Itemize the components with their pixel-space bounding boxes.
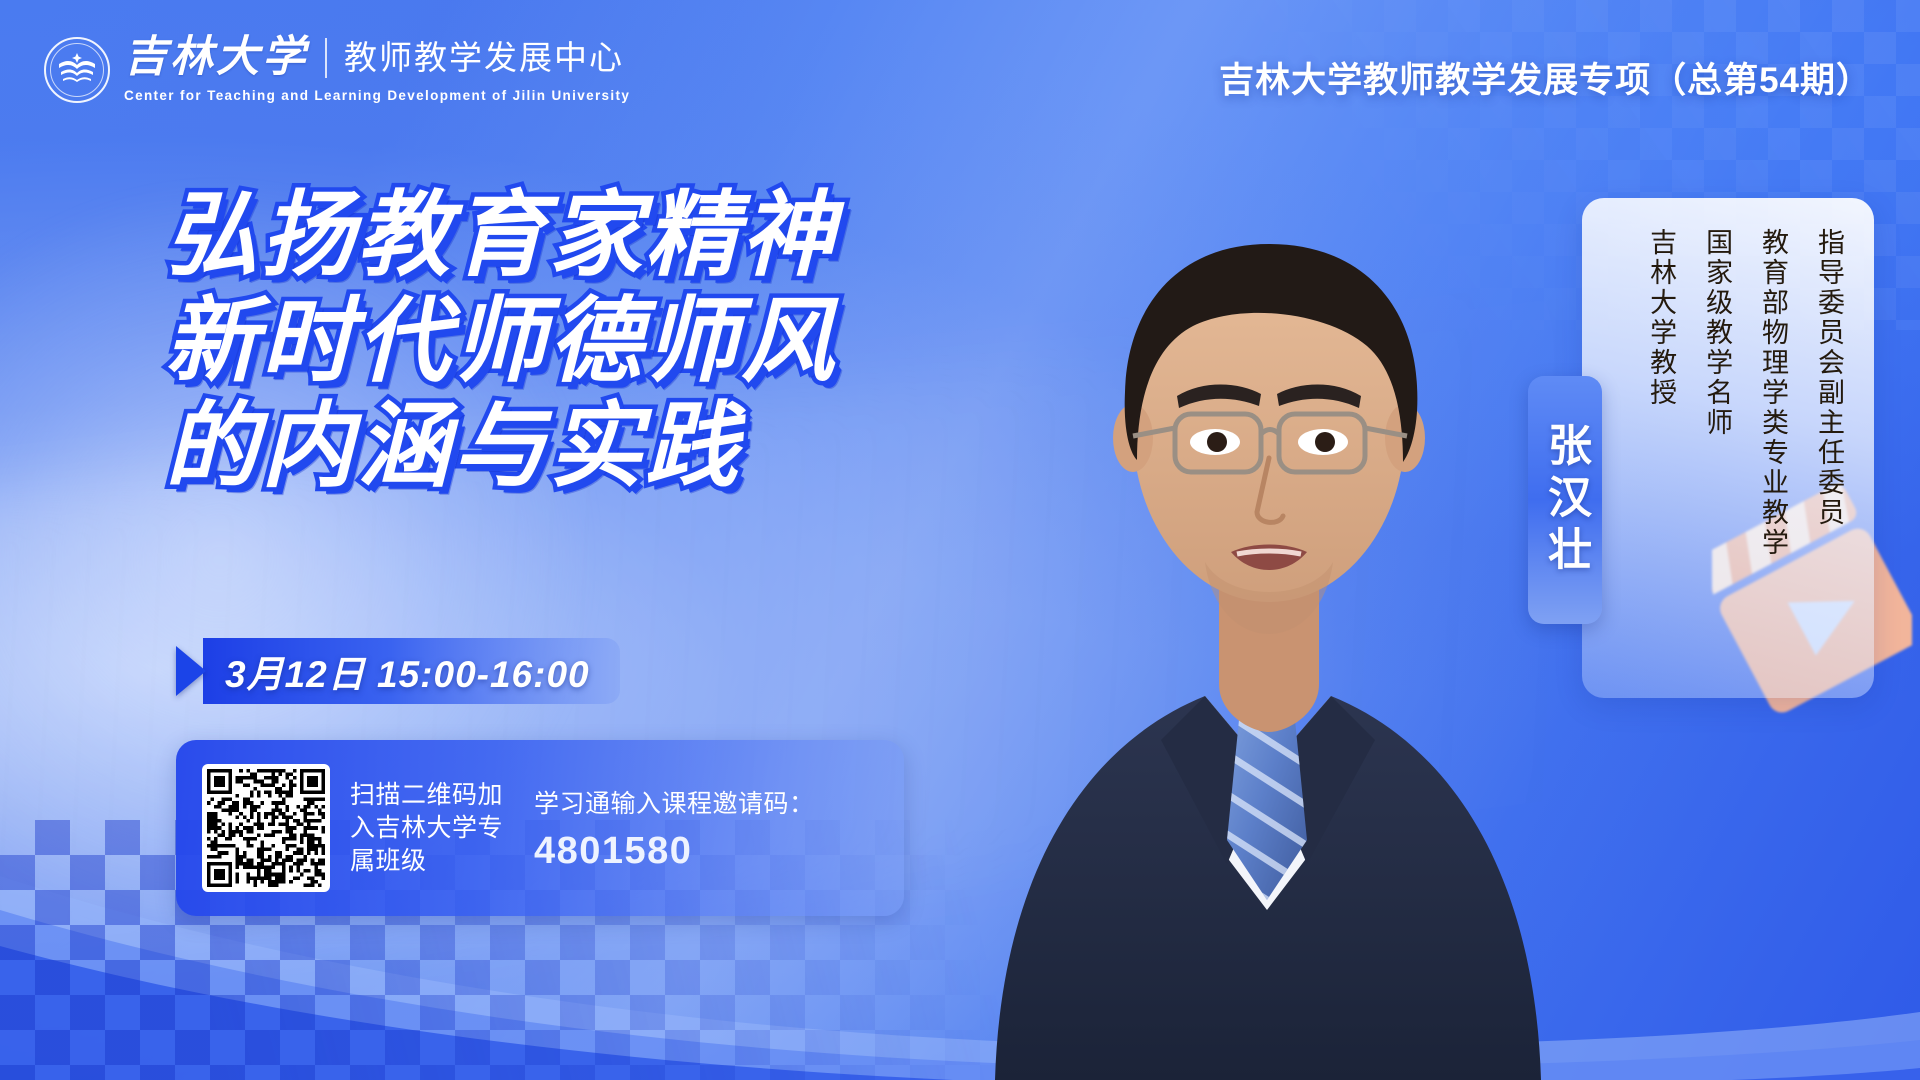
brand-text: 吉林大学 教师教学发展中心 Center for Teaching and Le…	[124, 36, 630, 103]
credential-line-3: 国家级教学名师	[1696, 228, 1736, 438]
datetime-pill: 3月12日 15:00-16:00	[203, 638, 620, 704]
university-name: 吉林大学	[124, 36, 308, 79]
speaker-name: 张汉壮	[1533, 422, 1597, 578]
center-name-cn: 教师教学发展中心	[344, 41, 624, 74]
book-seal-icon	[44, 37, 110, 103]
title-line-2: 新时代师德师风	[165, 292, 837, 392]
credential-card: 指导委员会副主任委员 教育部物理学类专业教学 国家级教学名师 吉林大学教授	[1582, 198, 1874, 698]
qr-code-icon[interactable]	[202, 764, 330, 892]
credential-line-1: 指导委员会副主任委员	[1808, 228, 1848, 528]
credential-line-4: 吉林大学教授	[1640, 228, 1680, 408]
qr-info-card: 扫描二维码加入吉林大学专属班级 学习通输入课程邀请码： 4801580	[176, 740, 904, 916]
poster-root: 吉林大学 教师教学发展中心 Center for Teaching and Le…	[0, 0, 1920, 1080]
datetime-banner: 3月12日 15:00-16:00	[176, 638, 620, 704]
play-triangle-icon	[176, 646, 206, 696]
brand-logo: 吉林大学 教师教学发展中心 Center for Teaching and Le…	[44, 36, 630, 103]
title-line-1: 弘扬教育家精神	[165, 186, 837, 286]
credential-line-2: 教育部物理学类专业教学	[1752, 228, 1792, 558]
title-line-3: 的内涵与实践	[165, 397, 837, 497]
invite-block: 学习通输入课程邀请码： 4801580	[534, 784, 815, 873]
speaker-name-tag: 张汉壮	[1528, 376, 1602, 624]
brand-divider	[325, 38, 327, 78]
datetime-text: 3月12日 15:00-16:00	[225, 644, 590, 698]
center-name-en: Center for Teaching and Learning Develop…	[124, 88, 630, 103]
main-title: 弘扬教育家精神 新时代师德师风 的内涵与实践	[165, 186, 837, 503]
invite-code: 4801580	[534, 830, 815, 873]
qr-label: 扫描二维码加入吉林大学专属班级	[350, 779, 510, 878]
invite-prompt: 学习通输入课程邀请码：	[534, 784, 815, 820]
